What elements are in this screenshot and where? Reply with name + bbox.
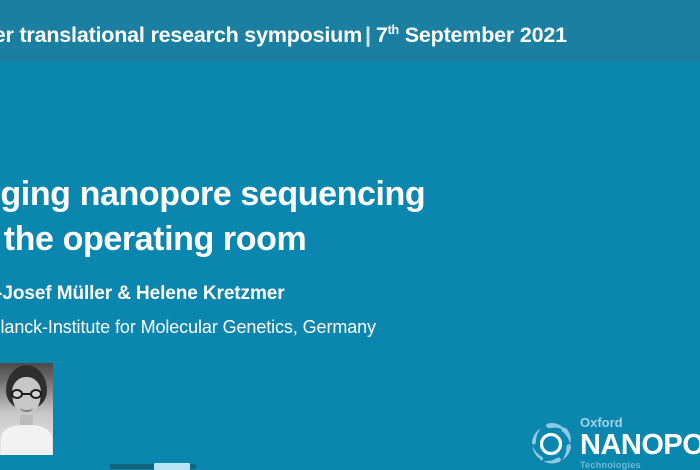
symposium-header: Cancer translational research symposium|… bbox=[0, 25, 567, 47]
presenter-affiliation: Max Planck-Institute for Molecular Genet… bbox=[0, 317, 376, 338]
slide-title: Bringing nanopore sequencing into the op… bbox=[0, 172, 425, 262]
header-date-ordinal: th bbox=[388, 23, 399, 37]
presenter-names: Franz-Josef Müller & Helene Kretzmer bbox=[0, 283, 285, 305]
glasses-bridge bbox=[23, 393, 30, 395]
speaker-video-thumbnail[interactable] bbox=[0, 363, 55, 455]
video-player-stage[interactable]: Cancer translational research symposium|… bbox=[0, 0, 700, 470]
nanopore-swirl-icon bbox=[528, 420, 574, 466]
symposium-event-name: Cancer translational research symposium bbox=[0, 23, 362, 47]
speaker-portrait-photo bbox=[0, 363, 53, 455]
header-separator: | bbox=[362, 23, 376, 47]
presentation-slide: Cancer translational research symposium|… bbox=[0, 0, 700, 470]
logo-oxford-text: Oxford bbox=[580, 416, 700, 430]
photo-shoulders bbox=[1, 425, 52, 455]
logo-wordmark: Oxford NANOPORE Technologies bbox=[580, 416, 700, 470]
glasses-right-lens bbox=[30, 389, 42, 399]
header-date-rest: September 2021 bbox=[399, 23, 567, 47]
logo-nanopore-text: NANOPORE bbox=[580, 430, 700, 460]
photo-mouth bbox=[20, 404, 33, 412]
video-progress-bar[interactable] bbox=[110, 462, 196, 470]
slide-header-band: Cancer translational research symposium|… bbox=[0, 0, 700, 62]
oxford-nanopore-logo: Oxford NANOPORE Technologies bbox=[528, 408, 700, 470]
slide-title-line-1: Bringing nanopore sequencing bbox=[0, 172, 425, 217]
header-date-day: 7 bbox=[376, 23, 388, 47]
progress-handle[interactable] bbox=[154, 463, 190, 470]
slide-title-line-2: into the operating room bbox=[0, 217, 425, 262]
glasses-left-lens bbox=[11, 389, 23, 399]
logo-technologies-text: Technologies bbox=[580, 460, 700, 470]
glasses-icon bbox=[11, 389, 42, 399]
